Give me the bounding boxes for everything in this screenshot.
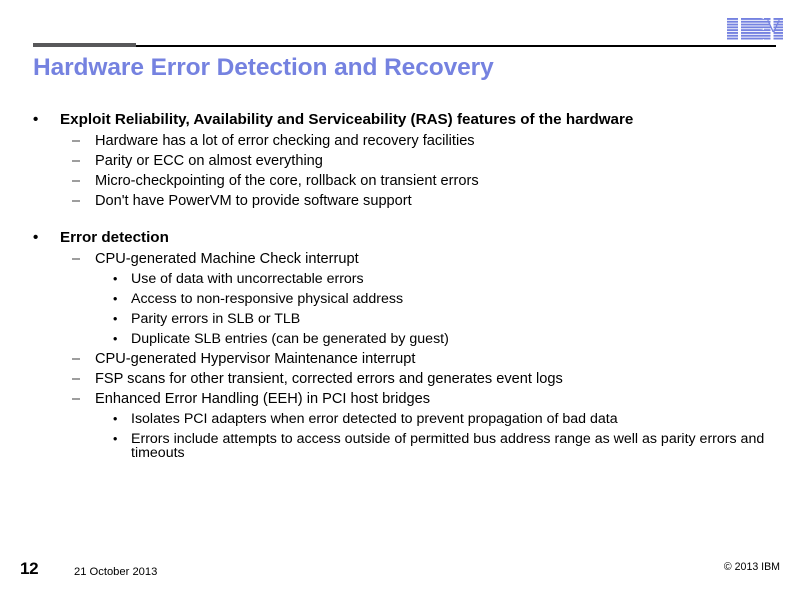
bullet-level3: • Use of data with uncorrectable errors [0, 272, 800, 290]
bullet-text: Use of data with uncorrectable errors [131, 272, 800, 286]
bullet-marker-level2-icon: – [72, 194, 80, 210]
bullet-level2: – Parity or ECC on almost everything [0, 154, 800, 172]
bullet-level3: • Duplicate SLB entries (can be generate… [0, 332, 800, 350]
bullet-text: Access to non-responsive physical addres… [131, 292, 800, 306]
page-title: Hardware Error Detection and Recovery [33, 54, 753, 82]
bullet-marker-level2-icon: – [72, 352, 80, 368]
bullet-level3: • Errors include attempts to access outs… [0, 432, 800, 460]
block-spacer [0, 214, 800, 230]
bullet-level2: – Hardware has a lot of error checking a… [0, 134, 800, 152]
bullet-text: CPU-generated Hypervisor Maintenance int… [95, 352, 800, 367]
bullet-text: Exploit Reliability, Availability and Se… [60, 112, 800, 127]
bullet-marker-level3-icon: • [113, 432, 117, 447]
bullet-level2: – FSP scans for other transient, correct… [0, 372, 800, 390]
bullet-text: Isolates PCI adapters when error detecte… [131, 412, 782, 426]
bullet-text: Micro-checkpointing of the core, rollbac… [95, 174, 800, 189]
bullet-marker-level2-icon: – [72, 134, 80, 150]
footer-copyright: © 2013 IBM [724, 561, 780, 573]
bullet-text: Don't have PowerVM to provide software s… [95, 194, 800, 209]
bullet-marker-level2-icon: – [72, 154, 80, 170]
content-block-2: • Error detection – CPU-generated Machin… [0, 230, 800, 460]
bullet-level2: – Micro-checkpointing of the core, rollb… [0, 174, 800, 192]
header-rule-gray [33, 43, 136, 47]
header-rule-black [136, 45, 776, 47]
bullet-marker-level2-icon: – [72, 392, 80, 408]
bullet-marker-level3-icon: • [113, 292, 117, 307]
bullet-text: FSP scans for other transient, corrected… [95, 372, 800, 387]
slide-canvas: Hardware Error Detection and Recovery • … [0, 0, 800, 600]
bullet-text: Parity or ECC on almost everything [95, 154, 800, 169]
bullet-text: Duplicate SLB entries (can be generated … [131, 332, 800, 346]
bullet-level2: – Don't have PowerVM to provide software… [0, 194, 800, 212]
bullet-marker-level3-icon: • [113, 272, 117, 287]
bullet-level3: • Access to non-responsive physical addr… [0, 292, 800, 310]
bullet-text: Errors include attempts to access outsid… [131, 432, 782, 460]
bullet-level3: • Parity errors in SLB or TLB [0, 312, 800, 330]
bullet-level2: – Enhanced Error Handling (EEH) in PCI h… [0, 392, 800, 410]
bullet-text: Hardware has a lot of error checking and… [95, 134, 800, 149]
ibm-logo-icon [727, 18, 783, 40]
bullet-text: Enhanced Error Handling (EEH) in PCI hos… [95, 392, 800, 407]
bullet-marker-level2-icon: – [72, 252, 80, 268]
footer-date: 21 October 2013 [74, 566, 157, 578]
bullet-text: Parity errors in SLB or TLB [131, 312, 800, 326]
bullet-marker-level2-icon: – [72, 372, 80, 388]
bullet-marker-level3-icon: • [113, 332, 117, 347]
ibm-logo [727, 18, 783, 40]
bullet-text: CPU-generated Machine Check interrupt [95, 252, 800, 267]
bullet-level2: – CPU-generated Machine Check interrupt [0, 252, 800, 270]
slide-number: 12 [20, 559, 38, 579]
bullet-marker-level1-icon: • [33, 230, 38, 246]
bullet-text: Error detection [60, 230, 800, 245]
bullet-marker-level2-icon: – [72, 174, 80, 190]
bullet-level3: • Isolates PCI adapters when error detec… [0, 412, 800, 430]
bullet-level2: – CPU-generated Hypervisor Maintenance i… [0, 352, 800, 370]
bullet-marker-level3-icon: • [113, 412, 117, 427]
bullet-level1-heading: • Exploit Reliability, Availability and … [0, 112, 800, 131]
slide-body: • Exploit Reliability, Availability and … [0, 112, 800, 462]
bullet-marker-level3-icon: • [113, 312, 117, 327]
content-block-1: • Exploit Reliability, Availability and … [0, 112, 800, 212]
bullet-marker-level1-icon: • [33, 112, 38, 128]
bullet-level1-heading: • Error detection [0, 230, 800, 249]
